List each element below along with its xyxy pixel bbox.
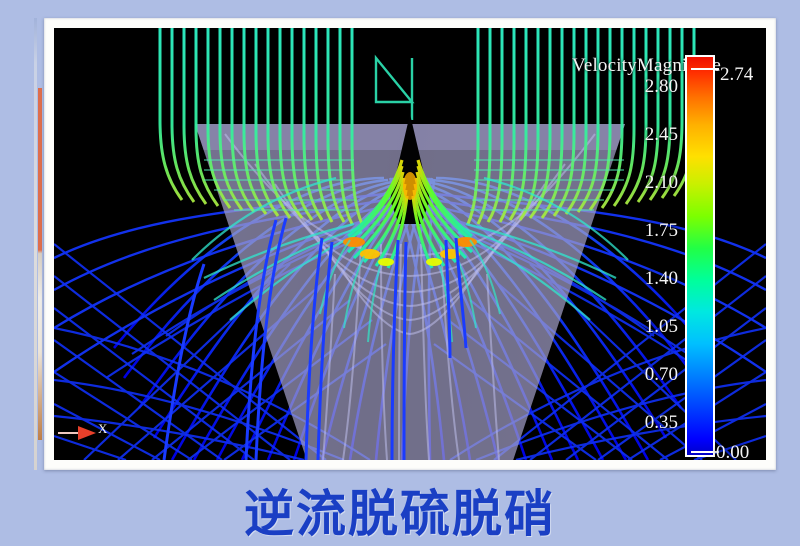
- colorbar[interactable]: [685, 55, 713, 455]
- colorbar-min-tick: [691, 451, 719, 453]
- axis-label-x: X: [98, 421, 107, 437]
- colorbar-min-value: 0.00: [716, 442, 749, 460]
- window-edge-strip-outer: [34, 18, 37, 470]
- slide-caption: 逆流脱硫脱硝: [0, 474, 800, 546]
- colorbar-gradient: [685, 55, 715, 457]
- colorbar-tick-3: 1.75: [645, 220, 678, 242]
- colorbar-max-tick: [691, 68, 719, 70]
- colorbar-tick-0: 2.80: [645, 76, 678, 98]
- colorbar-tick-4: 1.40: [645, 268, 678, 290]
- slide-canvas: VelocityMagnitude 2.80 2.45 2.10 1.75 1.…: [0, 0, 800, 542]
- colorbar-tick-7: 0.35: [645, 412, 678, 434]
- colorbar-tick-labels: 2.80 2.45 2.10 1.75 1.40 1.05 0.70 0.35 …: [610, 76, 678, 460]
- colorbar-max-value: 2.74: [720, 64, 753, 86]
- colorbar-tick-6: 0.70: [645, 364, 678, 386]
- axis-orientation-widget[interactable]: X: [58, 420, 114, 446]
- colorbar-tick-2: 2.10: [645, 172, 678, 194]
- cfd-render-viewport[interactable]: VelocityMagnitude 2.80 2.45 2.10 1.75 1.…: [54, 28, 766, 460]
- window-edge-strip: [38, 88, 42, 440]
- colorbar-tick-1: 2.45: [645, 124, 678, 146]
- colorbar-tick-5: 1.05: [645, 316, 678, 338]
